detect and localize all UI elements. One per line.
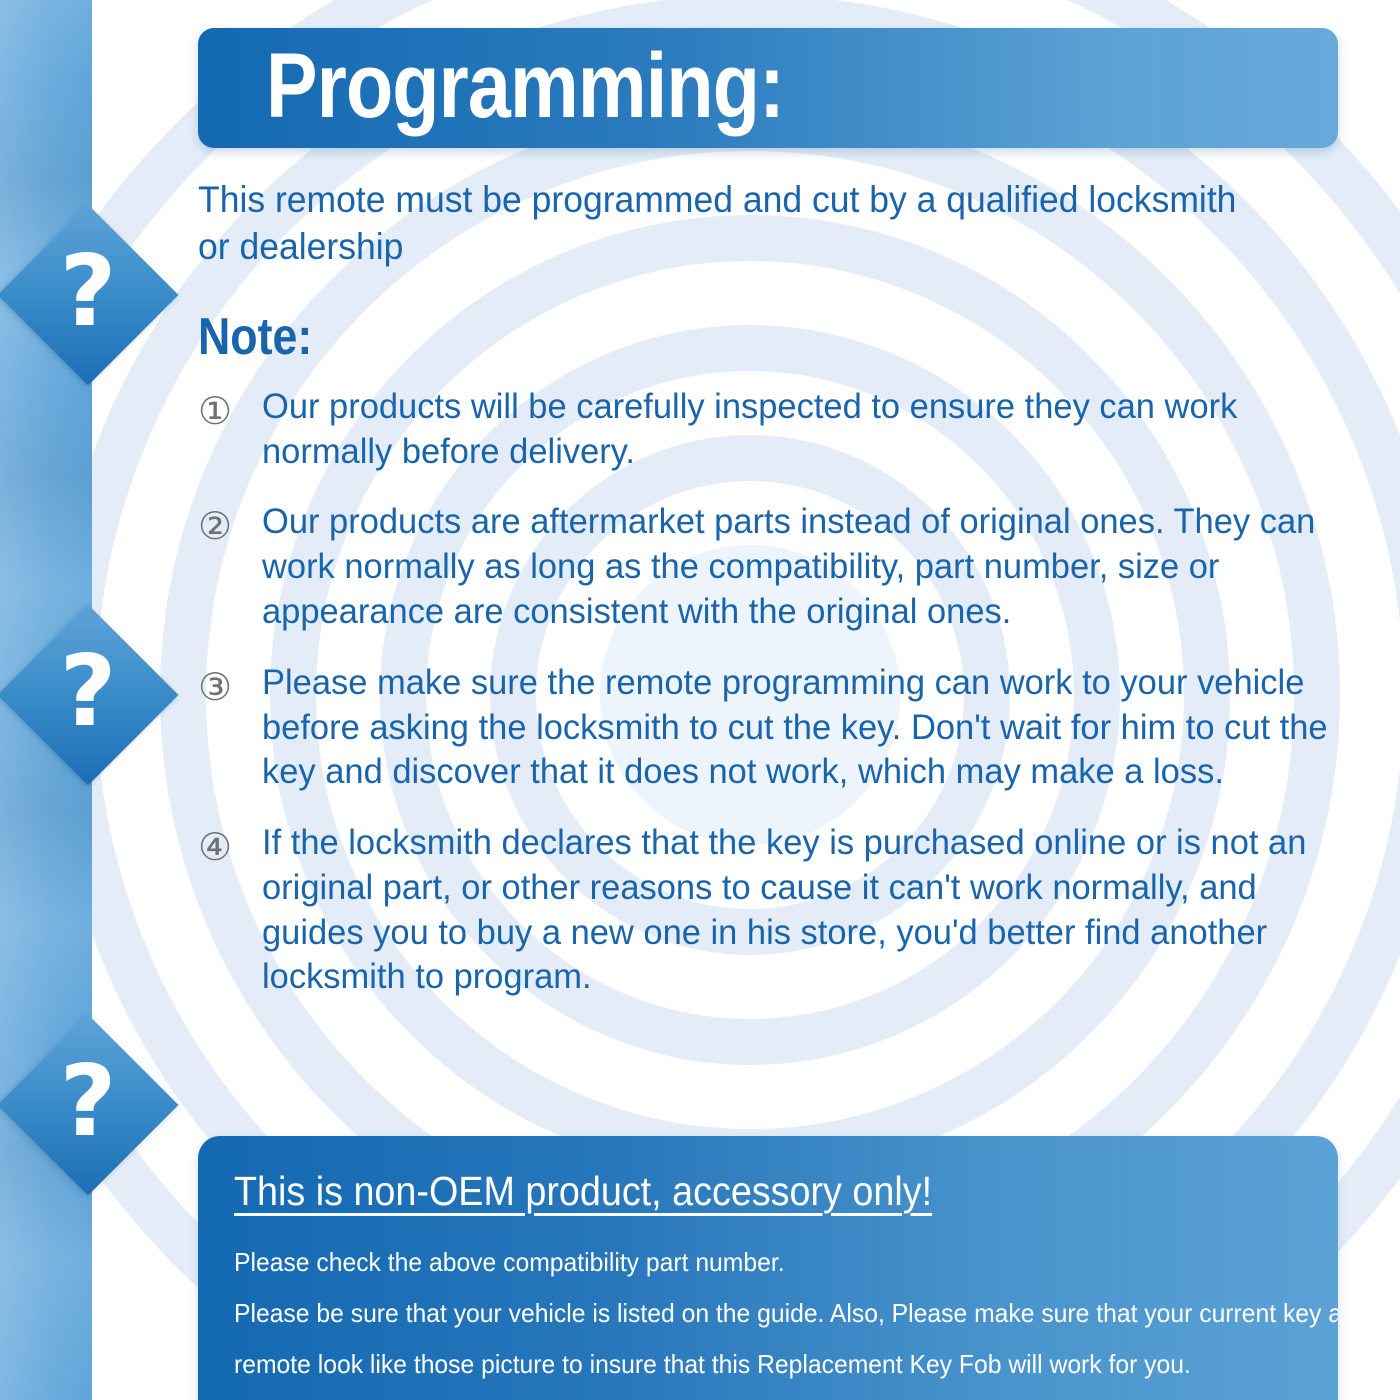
disclaimer-panel: This is non-OEM product, accessory only!… [198,1136,1338,1400]
note-list-item: ② Our products are aftermarket parts ins… [198,500,1348,634]
disclaimer-title: This is non-OEM product, accessory only! [234,1168,932,1215]
note-item-text: If the locksmith declares that the key i… [262,821,1332,1000]
header-banner: Programming: [198,28,1338,148]
question-diamond-3: ? [0,1015,178,1195]
question-mark-icon: ? [0,205,178,385]
circled-number-icon: ② [198,500,262,551]
intro-paragraph: This remote must be programmed and cut b… [198,176,1244,271]
note-item-text: Please make sure the remote programming … [262,661,1332,795]
question-mark-icon: ? [0,1015,178,1195]
disclaimer-line: Please be sure that your vehicle is list… [234,1288,1249,1339]
question-diamond-2: ? [0,605,178,785]
note-heading: Note: [198,311,1187,363]
disclaimer-line: remote look like those picture to insure… [234,1339,1249,1390]
note-item-text: Our products will be carefully inspected… [262,385,1332,475]
main-content: This remote must be programmed and cut b… [198,176,1348,1026]
note-list-item: ③ Please make sure the remote programmin… [198,661,1348,795]
disclaimer-body: Please check the above compatibility par… [234,1237,1302,1389]
note-list: ① Our products will be carefully inspect… [198,385,1348,1001]
programming-instructions-page: ? ? ? Programming: This remote must be p… [0,0,1400,1400]
circled-number-icon: ① [198,385,262,436]
page-title: Programming: [266,40,784,132]
question-mark-icon: ? [0,605,178,785]
question-diamond-1: ? [0,205,178,385]
note-item-text: Our products are aftermarket parts inste… [262,500,1332,634]
note-list-item: ④ If the locksmith declares that the key… [198,821,1348,1000]
disclaimer-line: Please check the above compatibility par… [234,1237,1249,1288]
circled-number-icon: ④ [198,821,262,872]
note-list-item: ① Our products will be carefully inspect… [198,385,1348,475]
circled-number-icon: ③ [198,661,262,712]
